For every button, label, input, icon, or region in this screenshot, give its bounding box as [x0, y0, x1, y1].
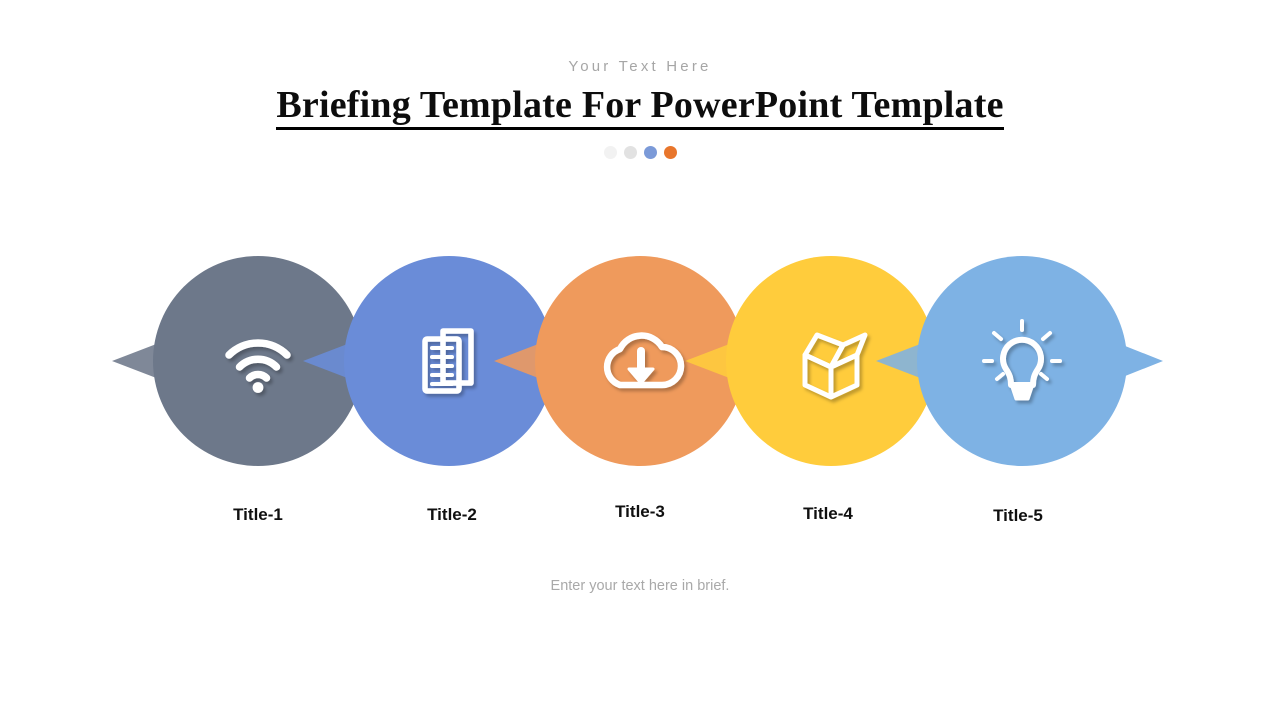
dot-1 [604, 146, 617, 159]
eyebrow-text: Your Text Here [0, 58, 1280, 76]
step-label-4: Title-4 [748, 503, 908, 525]
step-label-row: Title-1Title-2Title-3Title-4Title-5 [0, 498, 1280, 532]
dot-indicator-row [0, 146, 1280, 159]
page-title-underline: Briefing Template For PowerPoint Templat… [276, 84, 1003, 130]
page-title: Briefing Template For PowerPoint Templat… [276, 84, 1003, 126]
step-label-1: Title-1 [178, 504, 338, 526]
step-label-3: Title-3 [560, 501, 720, 523]
process-diagram [0, 236, 1280, 496]
process-diagram-svg [0, 236, 1280, 496]
footer-note: Enter your text here in brief. [0, 576, 1280, 596]
dot-3 [644, 146, 657, 159]
step-label-2: Title-2 [372, 504, 532, 526]
dot-2 [624, 146, 637, 159]
slide-header: Your Text Here Briefing Template For Pow… [0, 0, 1280, 159]
step-label-5: Title-5 [938, 505, 1098, 527]
dot-4 [664, 146, 677, 159]
